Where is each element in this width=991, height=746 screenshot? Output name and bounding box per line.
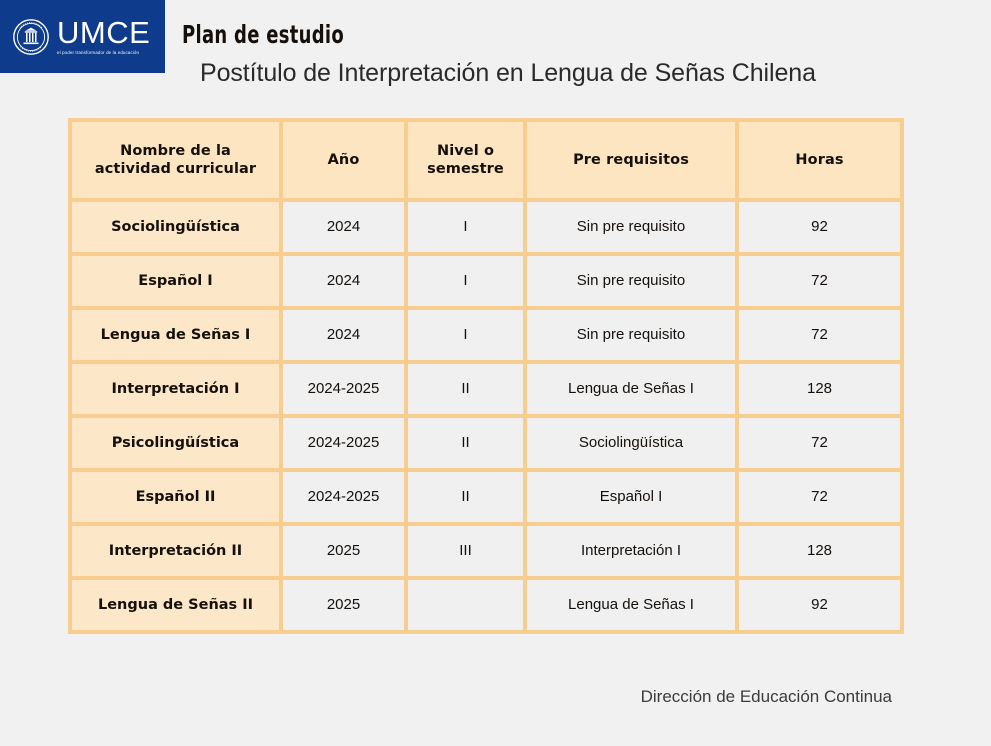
plan-de-estudio-table: Nombre de la actividad curricular Año Ni… — [68, 118, 904, 634]
cell-ano: 2024-2025 — [283, 364, 404, 414]
column-header-nombre: Nombre de la actividad curricular — [72, 122, 279, 198]
cell-nombre: Español I — [72, 256, 279, 306]
table-header: Nombre de la actividad curricular Año Ni… — [72, 122, 900, 198]
cell-nivel — [408, 580, 523, 630]
table-row: Interpretación II 2025 III Interpretació… — [72, 526, 900, 576]
plan-de-estudio-table-container: Nombre de la actividad curricular Año Ni… — [68, 118, 892, 634]
umce-circular-seal-icon — [12, 18, 50, 56]
cell-ano: 2025 — [283, 526, 404, 576]
column-header-nivel-line1: Nivel o — [437, 143, 494, 159]
umce-wordmark-text: UMCE — [57, 17, 150, 48]
column-header-nombre-line1: Nombre de la — [120, 143, 231, 159]
cell-nombre: Interpretación II — [72, 526, 279, 576]
table-row: Interpretación I 2024-2025 II Lengua de … — [72, 364, 900, 414]
footer-text: Dirección de Educación Continua — [641, 687, 892, 707]
cell-prerequisitos: Interpretación I — [527, 526, 735, 576]
umce-logo-banner: UMCE el poder transformador de la educac… — [0, 0, 165, 73]
cell-nivel: I — [408, 310, 523, 360]
table-header-row: Nombre de la actividad curricular Año Ni… — [72, 122, 900, 198]
column-header-ano: Año — [283, 122, 404, 198]
cell-nombre: Psicolingüística — [72, 418, 279, 468]
table-row: Lengua de Señas I 2024 I Sin pre requisi… — [72, 310, 900, 360]
cell-nombre: Sociolingüística — [72, 202, 279, 252]
column-header-nivel-line2: semestre — [427, 161, 504, 177]
cell-prerequisitos: Lengua de Señas I — [527, 580, 735, 630]
cell-prerequisitos: Sin pre requisito — [527, 202, 735, 252]
table-row: Psicolingüística 2024-2025 II Sociolingü… — [72, 418, 900, 468]
page-header: UMCE el poder transformador de la educac… — [0, 0, 991, 110]
cell-ano: 2024-2025 — [283, 418, 404, 468]
table-row: Lengua de Señas II 2025 Lengua de Señas … — [72, 580, 900, 630]
cell-ano: 2024 — [283, 202, 404, 252]
cell-ano: 2024-2025 — [283, 472, 404, 522]
cell-nombre: Lengua de Señas I — [72, 310, 279, 360]
cell-nivel: I — [408, 256, 523, 306]
cell-prerequisitos: Lengua de Señas I — [527, 364, 735, 414]
cell-ano: 2024 — [283, 310, 404, 360]
cell-nivel: I — [408, 202, 523, 252]
cell-horas: 128 — [739, 526, 900, 576]
table-row: Español II 2024-2025 II Español I 72 — [72, 472, 900, 522]
page-subtitle: Postítulo de Interpretación en Lengua de… — [200, 59, 816, 88]
cell-nivel: II — [408, 418, 523, 468]
table-row: Español I 2024 I Sin pre requisito 72 — [72, 256, 900, 306]
cell-horas: 72 — [739, 256, 900, 306]
umce-wordmark: UMCE el poder transformador de la educac… — [57, 17, 150, 55]
table-body: Sociolingüística 2024 I Sin pre requisit… — [72, 202, 900, 630]
cell-ano: 2024 — [283, 256, 404, 306]
cell-ano: 2025 — [283, 580, 404, 630]
cell-horas: 92 — [739, 202, 900, 252]
cell-nombre: Español II — [72, 472, 279, 522]
cell-horas: 72 — [739, 310, 900, 360]
column-header-horas: Horas — [739, 122, 900, 198]
cell-horas: 72 — [739, 472, 900, 522]
cell-nivel: II — [408, 472, 523, 522]
column-header-nivel: Nivel o semestre — [408, 122, 523, 198]
cell-prerequisitos: Español I — [527, 472, 735, 522]
cell-horas: 92 — [739, 580, 900, 630]
page-title: Plan de estudio — [182, 20, 344, 49]
cell-horas: 128 — [739, 364, 900, 414]
cell-prerequisitos: Sociolingüística — [527, 418, 735, 468]
cell-prerequisitos: Sin pre requisito — [527, 256, 735, 306]
cell-prerequisitos: Sin pre requisito — [527, 310, 735, 360]
cell-nombre: Lengua de Señas II — [72, 580, 279, 630]
column-header-prerequisitos: Pre requisitos — [527, 122, 735, 198]
cell-nombre: Interpretación I — [72, 364, 279, 414]
cell-horas: 72 — [739, 418, 900, 468]
umce-tagline: el poder transformador de la educación — [57, 50, 150, 55]
table-row: Sociolingüística 2024 I Sin pre requisit… — [72, 202, 900, 252]
cell-nivel: III — [408, 526, 523, 576]
cell-nivel: II — [408, 364, 523, 414]
column-header-nombre-line2: actividad curricular — [95, 161, 256, 177]
